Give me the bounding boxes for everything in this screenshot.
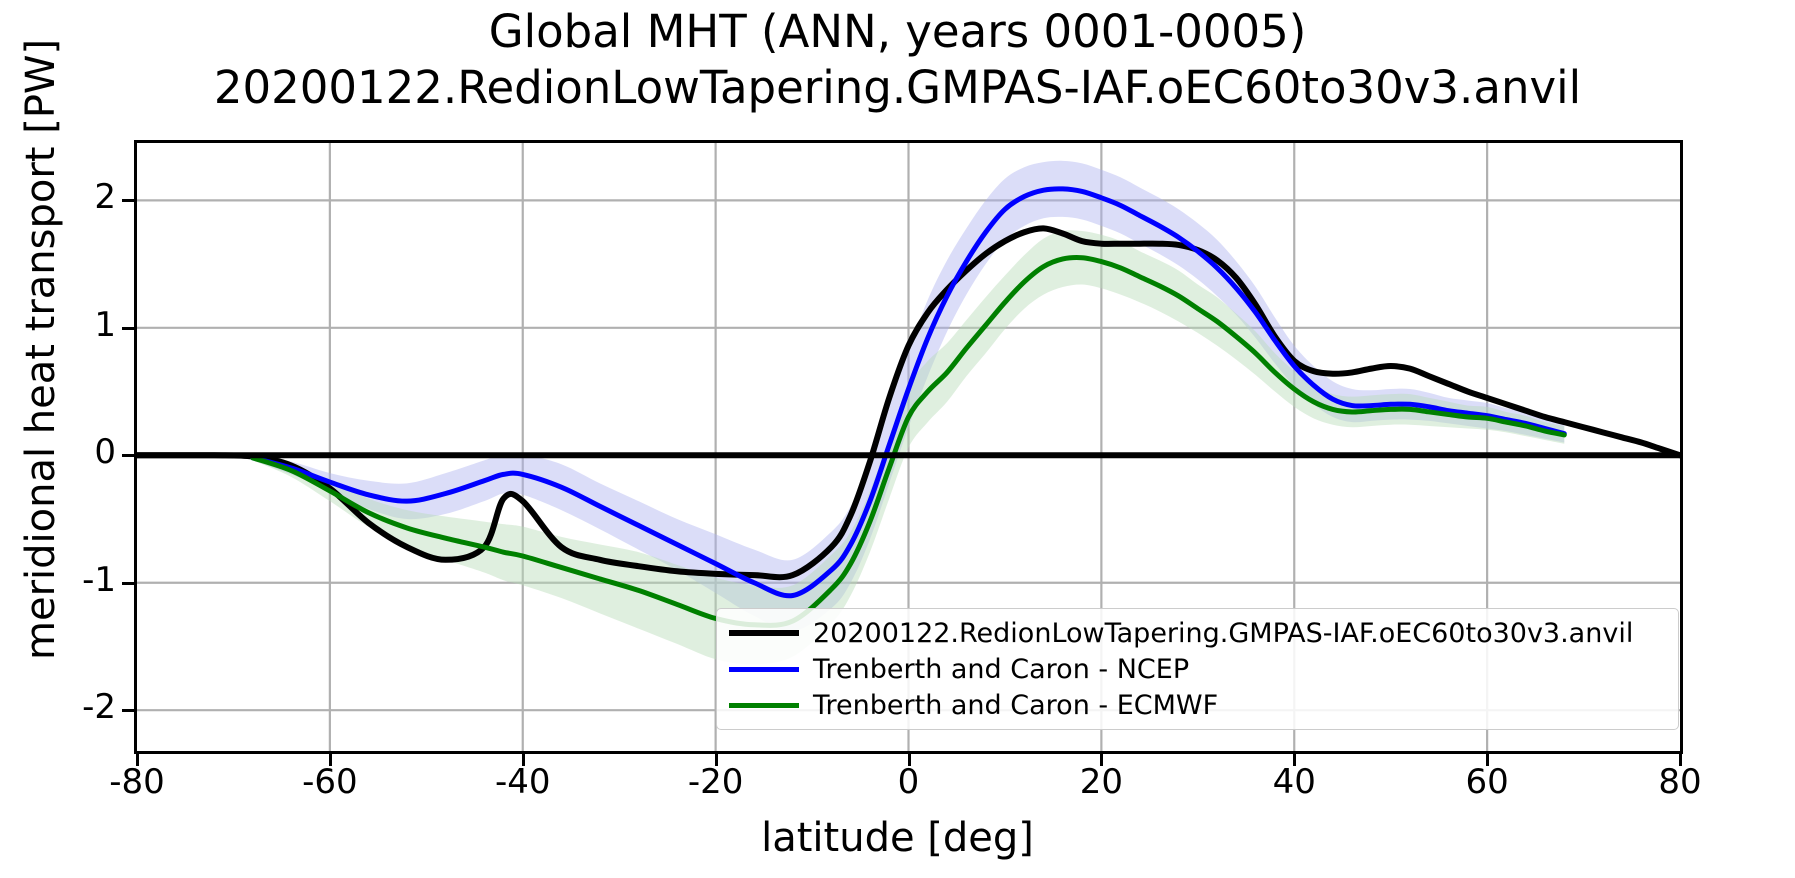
legend-item[interactable]: 20200122.RedionLowTapering.GMPAS-IAF.oEC… [729, 615, 1668, 651]
chart-title-line-2: 20200122.RedionLowTapering.GMPAS-IAF.oEC… [0, 60, 1795, 116]
legend-box[interactable]: 20200122.RedionLowTapering.GMPAS-IAF.oEC… [716, 608, 1679, 730]
y-tick-label: 1 [26, 305, 116, 345]
x-tick-label: 60 [1427, 762, 1547, 802]
x-tick-label: 0 [849, 762, 969, 802]
x-tick-label: 40 [1234, 762, 1354, 802]
chart-title-line-1: Global MHT (ANN, years 0001-0005) [0, 4, 1795, 60]
x-tick-mark [522, 754, 525, 766]
y-tick-label: 2 [26, 177, 116, 217]
legend-color-swatch [729, 703, 799, 708]
y-tick-mark [122, 199, 134, 202]
y-tick-label: 0 [26, 432, 116, 472]
legend-item-label: Trenberth and Caron - NCEP [813, 654, 1189, 685]
x-tick-mark [908, 754, 911, 766]
x-tick-mark [1100, 754, 1103, 766]
x-tick-mark [329, 754, 332, 766]
y-tick-mark [122, 454, 134, 457]
y-tick-label: -2 [26, 687, 116, 727]
y-tick-mark [122, 582, 134, 585]
legend-item[interactable]: Trenberth and Caron - ECMWF [729, 687, 1668, 723]
y-tick-mark [122, 327, 134, 330]
x-tick-label: -20 [656, 762, 776, 802]
x-tick-mark [1486, 754, 1489, 766]
legend-item-label: 20200122.RedionLowTapering.GMPAS-IAF.oEC… [813, 618, 1633, 649]
x-tick-mark [136, 754, 139, 766]
x-tick-label: -40 [463, 762, 583, 802]
x-tick-label: -80 [77, 762, 197, 802]
y-tick-mark [122, 709, 134, 712]
figure-canvas: Global MHT (ANN, years 0001-0005) 202001… [0, 0, 1795, 878]
chart-title: Global MHT (ANN, years 0001-0005) 202001… [0, 4, 1795, 116]
y-tick-label: -1 [26, 560, 116, 600]
x-tick-mark [715, 754, 718, 766]
x-tick-mark [1679, 754, 1682, 766]
legend-color-swatch [729, 630, 799, 636]
legend-item-label: Trenberth and Caron - ECMWF [813, 690, 1218, 721]
legend-item[interactable]: Trenberth and Caron - NCEP [729, 651, 1668, 687]
x-axis-label: latitude [deg] [0, 815, 1795, 861]
x-tick-label: 20 [1041, 762, 1161, 802]
x-tick-mark [1293, 754, 1296, 766]
x-tick-label: -60 [270, 762, 390, 802]
legend-color-swatch [729, 667, 799, 672]
x-tick-label: 80 [1620, 762, 1740, 802]
